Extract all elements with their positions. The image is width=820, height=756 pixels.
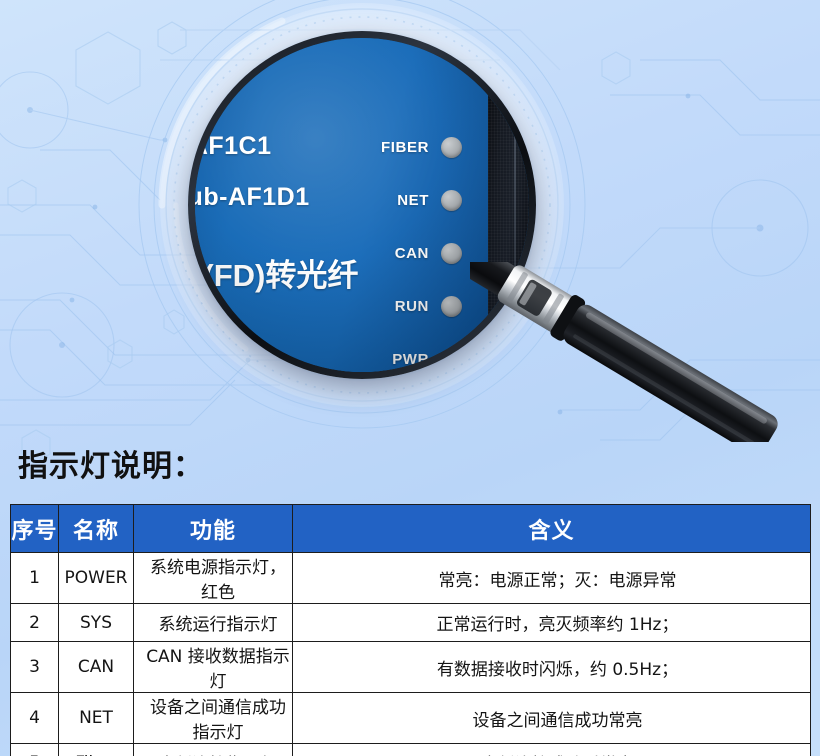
product-spec-page: -AF1C1 Hub-AF1D1 N(FD)转光纤 FIBER NET CAN … — [0, 0, 820, 756]
cell-name: NET — [59, 693, 134, 744]
col-header-meaning: 含义 — [293, 505, 811, 553]
table-row: 3 CAN CAN 接收数据指示灯 有数据接收时闪烁，约 0.5Hz； — [11, 642, 811, 693]
cell-name: Fiber — [59, 744, 134, 756]
table-row: 1 POWER 系统电源指示灯，红色 常亮：电源正常；灭：电源异常 — [11, 553, 811, 604]
magnifier-handle — [470, 262, 820, 442]
cell-func: 系统运行指示灯 — [134, 604, 293, 642]
indicator-light-table: 序号 名称 功能 含义 1 POWER 系统电源指示灯，红色 常亮：电源正常；灭… — [10, 504, 811, 756]
cell-name: CAN — [59, 642, 134, 693]
col-header-no: 序号 — [11, 505, 59, 553]
col-header-func: 功能 — [134, 505, 293, 553]
col-header-name: 名称 — [59, 505, 134, 553]
cell-meaning: 正常运行时，亮灭频率约 1Hz； — [293, 604, 811, 642]
cell-meaning: 光纤连接成功后常亮 — [293, 744, 811, 756]
cell-func: 设备之间通信成功指示灯 — [134, 693, 293, 744]
cell-no: 2 — [11, 604, 59, 642]
cell-func: 系统电源指示灯，红色 — [134, 553, 293, 604]
cell-no: 5 — [11, 744, 59, 756]
cell-meaning: 有数据接收时闪烁，约 0.5Hz； — [293, 642, 811, 693]
cell-no: 4 — [11, 693, 59, 744]
page-title: 指示灯说明： — [18, 441, 204, 485]
cell-func: 光纤连接指示灯 — [134, 744, 293, 756]
table-row: 4 NET 设备之间通信成功指示灯 设备之间通信成功常亮 — [11, 693, 811, 744]
cell-name: SYS — [59, 604, 134, 642]
indicator-table-wrapper: 序号 名称 功能 含义 1 POWER 系统电源指示灯，红色 常亮：电源正常；灭… — [10, 504, 810, 756]
table-row: 2 SYS 系统运行指示灯 正常运行时，亮灭频率约 1Hz； — [11, 604, 811, 642]
table-row: 5 Fiber 光纤连接指示灯 光纤连接成功后常亮 — [11, 744, 811, 756]
cell-meaning: 常亮：电源正常；灭：电源异常 — [293, 553, 811, 604]
cell-meaning: 设备之间通信成功常亮 — [293, 693, 811, 744]
cell-func: CAN 接收数据指示灯 — [134, 642, 293, 693]
cell-no: 3 — [11, 642, 59, 693]
cell-name: POWER — [59, 553, 134, 604]
table-header-row: 序号 名称 功能 含义 — [11, 505, 811, 553]
cell-no: 1 — [11, 553, 59, 604]
